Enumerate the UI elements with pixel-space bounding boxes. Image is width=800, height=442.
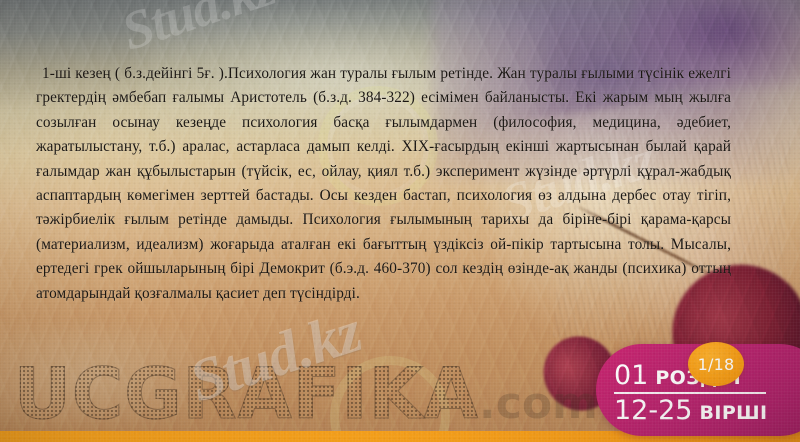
slide-counter-value: 1/18 <box>698 355 735 374</box>
verses-label: ВІРШІ <box>699 404 767 423</box>
watermark-ucgrafika-suffix: .com <box>479 378 598 429</box>
chapter-divider <box>614 392 766 394</box>
slide-canvas: Stud.kz Stud.kz UCGRAFIKA.com Stud.kz 1-… <box>0 0 800 442</box>
verses-range: 12-25 <box>614 397 692 425</box>
slide-counter-badge: 1/18 <box>688 342 744 386</box>
chapter-number: 01 <box>614 362 648 390</box>
slide-body-text: 1-ші кезең ( б.з.дейінгі 5ғ. ).Психологи… <box>36 62 731 306</box>
chapter-row-bottom: 12-25 ВІРШІ <box>614 397 796 425</box>
